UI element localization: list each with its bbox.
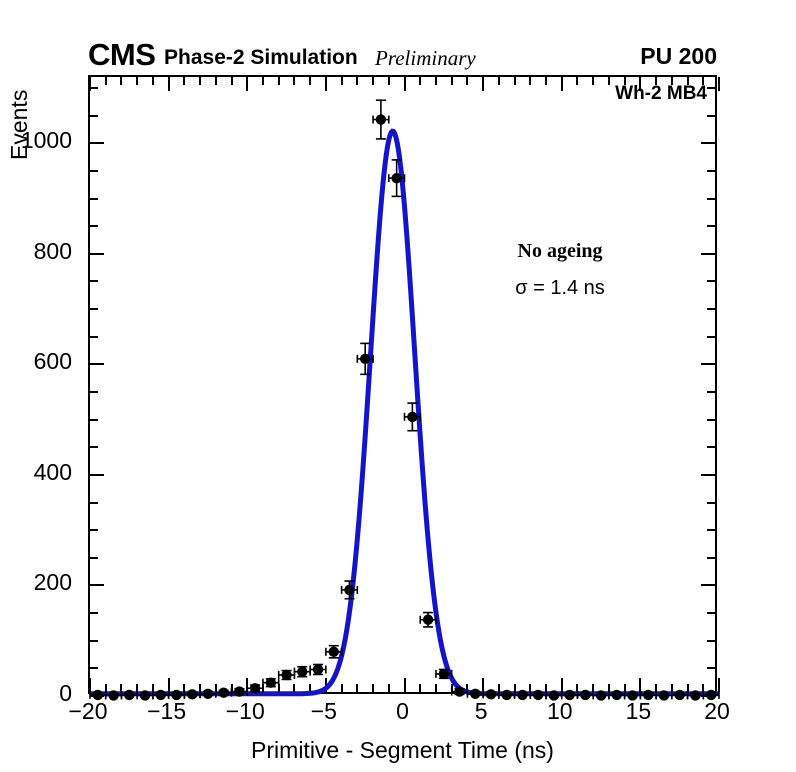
x-tick-minor bbox=[231, 77, 233, 85]
data-point bbox=[609, 690, 625, 700]
data-point bbox=[216, 687, 232, 697]
y-tick-major bbox=[701, 474, 715, 476]
x-axis-title: Primitive - Segment Time (ns) bbox=[88, 737, 717, 764]
data-point bbox=[389, 160, 405, 196]
x-tick-major bbox=[561, 77, 563, 91]
data-marker bbox=[124, 690, 134, 700]
y-tick-minor bbox=[90, 529, 98, 531]
x-tick-minor bbox=[671, 77, 673, 85]
cms-status-preliminary: Preliminary bbox=[375, 44, 476, 72]
x-tick-minor bbox=[592, 77, 594, 85]
y-tick-minor bbox=[707, 446, 715, 448]
data-layer bbox=[90, 77, 719, 696]
x-tick-minor bbox=[356, 684, 358, 692]
x-tick-minor bbox=[341, 684, 343, 692]
y-tick-minor bbox=[90, 391, 98, 393]
data-marker bbox=[423, 615, 433, 625]
x-tick-minor bbox=[624, 77, 626, 85]
x-tick-minor bbox=[514, 684, 516, 692]
x-tick-minor bbox=[388, 77, 390, 85]
x-tick-major bbox=[89, 678, 91, 692]
x-tick-minor bbox=[498, 684, 500, 692]
y-tick-major bbox=[701, 584, 715, 586]
data-point bbox=[420, 613, 436, 627]
y-tick-minor bbox=[707, 198, 715, 200]
y-tick-minor bbox=[90, 446, 98, 448]
x-tick-minor bbox=[136, 77, 138, 85]
data-point bbox=[326, 646, 342, 658]
data-marker bbox=[329, 647, 339, 657]
x-tick-minor bbox=[199, 684, 201, 692]
data-marker bbox=[612, 690, 622, 700]
x-tick-minor bbox=[105, 684, 107, 692]
x-tick-minor bbox=[152, 77, 154, 85]
y-tick-minor bbox=[707, 115, 715, 117]
x-tick-minor bbox=[419, 684, 421, 692]
x-tick-minor bbox=[702, 684, 704, 692]
y-tick-minor bbox=[707, 391, 715, 393]
x-tick-minor bbox=[514, 77, 516, 85]
y-tick-minor bbox=[90, 557, 98, 559]
y-tick-major bbox=[90, 253, 104, 255]
data-point bbox=[577, 690, 593, 700]
x-tick-major bbox=[246, 77, 248, 91]
y-tick-major bbox=[701, 142, 715, 144]
x-ticklabel: −20 bbox=[58, 700, 118, 723]
x-tick-minor bbox=[309, 684, 311, 692]
x-tick-minor bbox=[388, 684, 390, 692]
x-tick-minor bbox=[372, 684, 374, 692]
data-point bbox=[373, 100, 389, 139]
x-tick-minor bbox=[608, 684, 610, 692]
x-tick-major bbox=[89, 77, 91, 91]
x-tick-minor bbox=[592, 684, 594, 692]
x-tick-major bbox=[168, 678, 170, 692]
x-tick-minor bbox=[624, 684, 626, 692]
x-tick-minor bbox=[419, 77, 421, 85]
y-tick-minor bbox=[707, 419, 715, 421]
y-tick-minor bbox=[707, 225, 715, 227]
data-point bbox=[672, 690, 688, 700]
x-tick-minor bbox=[278, 684, 280, 692]
chamber-label: Wh-2 MB4 bbox=[615, 83, 707, 105]
y-tick-minor bbox=[707, 557, 715, 559]
x-tick-minor bbox=[451, 684, 453, 692]
data-marker bbox=[407, 412, 417, 422]
y-tick-minor bbox=[90, 640, 98, 642]
x-tick-minor bbox=[278, 77, 280, 85]
x-ticklabel: −10 bbox=[215, 700, 275, 723]
y-tick-major bbox=[90, 474, 104, 476]
x-tick-minor bbox=[262, 684, 264, 692]
x-tick-minor bbox=[341, 77, 343, 85]
data-point bbox=[279, 670, 295, 680]
data-point bbox=[515, 690, 531, 700]
y-tick-minor bbox=[90, 612, 98, 614]
x-tick-minor bbox=[293, 77, 295, 85]
y-tick-minor bbox=[90, 280, 98, 282]
data-point bbox=[310, 664, 326, 674]
y-tick-minor bbox=[90, 502, 98, 504]
data-marker bbox=[266, 678, 276, 688]
y-tick-major bbox=[701, 695, 715, 697]
x-tick-minor bbox=[231, 684, 233, 692]
x-tick-minor bbox=[183, 684, 185, 692]
data-marker bbox=[297, 666, 307, 676]
data-marker bbox=[439, 669, 449, 679]
y-tick-major bbox=[701, 253, 715, 255]
data-marker bbox=[454, 686, 464, 696]
x-tick-minor bbox=[702, 77, 704, 85]
x-tick-minor bbox=[215, 77, 217, 85]
x-ticklabel: 20 bbox=[687, 700, 747, 723]
data-points-group bbox=[90, 100, 719, 700]
cms-subtitle: Phase-2 Simulation bbox=[164, 44, 358, 72]
x-tick-major bbox=[404, 77, 406, 91]
y-ticklabel: 400 bbox=[34, 461, 72, 484]
x-tick-minor bbox=[120, 77, 122, 85]
y-tick-minor bbox=[90, 115, 98, 117]
y-tick-minor bbox=[707, 280, 715, 282]
y-tick-minor bbox=[90, 225, 98, 227]
x-tick-major bbox=[639, 77, 641, 91]
x-tick-minor bbox=[215, 684, 217, 692]
x-tick-major bbox=[482, 678, 484, 692]
x-tick-minor bbox=[608, 77, 610, 85]
x-tick-minor bbox=[372, 77, 374, 85]
data-marker bbox=[517, 690, 527, 700]
fit-curve-path bbox=[90, 131, 719, 694]
x-tick-minor bbox=[655, 684, 657, 692]
data-marker bbox=[218, 687, 228, 697]
y-tick-major bbox=[90, 584, 104, 586]
data-point bbox=[593, 690, 609, 700]
x-tick-minor bbox=[120, 684, 122, 692]
data-marker bbox=[376, 114, 386, 124]
y-tick-minor bbox=[707, 640, 715, 642]
x-tick-minor bbox=[545, 77, 547, 85]
x-tick-major bbox=[325, 77, 327, 91]
x-tick-minor bbox=[293, 684, 295, 692]
x-tick-minor bbox=[545, 684, 547, 692]
data-point bbox=[247, 683, 263, 693]
data-point bbox=[200, 689, 216, 699]
y-tick-minor bbox=[707, 612, 715, 614]
data-marker bbox=[250, 683, 260, 693]
x-ticklabel: −15 bbox=[137, 700, 197, 723]
x-tick-minor bbox=[136, 684, 138, 692]
x-ticklabel: 10 bbox=[530, 700, 590, 723]
data-point bbox=[405, 403, 421, 431]
x-tick-major bbox=[246, 678, 248, 692]
y-ticklabel: 200 bbox=[34, 571, 72, 594]
data-marker bbox=[234, 686, 244, 696]
y-tick-minor bbox=[707, 170, 715, 172]
x-ticklabel: 15 bbox=[608, 700, 668, 723]
pileup-label: PU 200 bbox=[640, 41, 717, 71]
y-tick-minor bbox=[707, 667, 715, 669]
x-tick-minor bbox=[451, 77, 453, 85]
x-tick-major bbox=[168, 77, 170, 91]
y-tick-minor bbox=[90, 308, 98, 310]
x-tick-minor bbox=[183, 77, 185, 85]
x-tick-minor bbox=[435, 684, 437, 692]
data-point bbox=[452, 686, 468, 696]
plot-canvas: CMS Phase-2 Simulation Preliminary PU 20… bbox=[0, 0, 796, 772]
data-marker bbox=[360, 354, 370, 364]
x-tick-minor bbox=[262, 77, 264, 85]
x-tick-major bbox=[325, 678, 327, 692]
x-tick-minor bbox=[576, 684, 578, 692]
x-tick-minor bbox=[466, 77, 468, 85]
x-tick-minor bbox=[576, 77, 578, 85]
x-tick-minor bbox=[529, 684, 531, 692]
data-point bbox=[342, 581, 358, 599]
y-tick-minor bbox=[707, 87, 715, 89]
y-tick-major bbox=[701, 363, 715, 365]
data-marker bbox=[580, 690, 590, 700]
data-point bbox=[263, 678, 279, 688]
x-tick-major bbox=[718, 678, 720, 692]
y-tick-major bbox=[90, 363, 104, 365]
x-tick-major bbox=[718, 77, 720, 91]
data-marker bbox=[344, 585, 354, 595]
data-point bbox=[184, 689, 200, 699]
x-tick-minor bbox=[529, 77, 531, 85]
x-tick-major bbox=[404, 678, 406, 692]
gaussian-fit-curve bbox=[90, 131, 719, 694]
data-point bbox=[436, 669, 452, 679]
cms-header: CMS Phase-2 Simulation Preliminary PU 20… bbox=[88, 40, 717, 74]
x-tick-major bbox=[639, 678, 641, 692]
y-tick-minor bbox=[90, 170, 98, 172]
plot-frame: Wh-2 MB4 No ageing σ = 1.4 ns bbox=[88, 75, 717, 694]
x-ticklabel: −5 bbox=[294, 700, 354, 723]
x-tick-minor bbox=[105, 77, 107, 85]
y-tick-minor bbox=[707, 529, 715, 531]
data-marker bbox=[391, 173, 401, 183]
x-tick-minor bbox=[199, 77, 201, 85]
y-tick-minor bbox=[90, 419, 98, 421]
data-point bbox=[530, 690, 546, 700]
x-tick-minor bbox=[356, 77, 358, 85]
x-tick-minor bbox=[655, 77, 657, 85]
data-marker bbox=[674, 690, 684, 700]
x-tick-minor bbox=[435, 77, 437, 85]
data-marker bbox=[187, 689, 197, 699]
y-tick-minor bbox=[90, 198, 98, 200]
x-tick-minor bbox=[309, 77, 311, 85]
y-tick-minor bbox=[90, 667, 98, 669]
data-point bbox=[294, 666, 310, 676]
y-tick-minor bbox=[90, 87, 98, 89]
x-tick-minor bbox=[687, 77, 689, 85]
x-tick-major bbox=[561, 678, 563, 692]
x-ticklabel: 0 bbox=[373, 700, 433, 723]
x-tick-minor bbox=[152, 684, 154, 692]
y-tick-minor bbox=[707, 502, 715, 504]
y-tick-major bbox=[90, 142, 104, 144]
annotation-ageing: No ageing bbox=[450, 240, 670, 263]
y-ticklabel: 1000 bbox=[21, 129, 72, 152]
data-marker bbox=[281, 670, 291, 680]
data-point bbox=[121, 690, 137, 700]
data-marker bbox=[596, 690, 606, 700]
data-point bbox=[499, 690, 515, 700]
x-tick-major bbox=[482, 77, 484, 91]
y-ticklabel: 800 bbox=[34, 240, 72, 263]
data-marker bbox=[313, 664, 323, 674]
data-point bbox=[232, 686, 248, 696]
data-marker bbox=[533, 690, 543, 700]
cms-logo: CMS bbox=[88, 38, 155, 72]
y-tick-minor bbox=[90, 336, 98, 338]
x-tick-minor bbox=[671, 684, 673, 692]
data-marker bbox=[502, 690, 512, 700]
y-tick-minor bbox=[707, 336, 715, 338]
annotation-sigma: σ = 1.4 ns bbox=[450, 277, 670, 300]
y-tick-major bbox=[90, 695, 104, 697]
y-tick-minor bbox=[707, 308, 715, 310]
data-point bbox=[357, 343, 373, 374]
x-tick-minor bbox=[498, 77, 500, 85]
x-tick-minor bbox=[466, 684, 468, 692]
x-ticklabel: 5 bbox=[451, 700, 511, 723]
data-marker bbox=[203, 689, 213, 699]
x-tick-minor bbox=[687, 684, 689, 692]
y-ticklabel: 600 bbox=[34, 350, 72, 373]
